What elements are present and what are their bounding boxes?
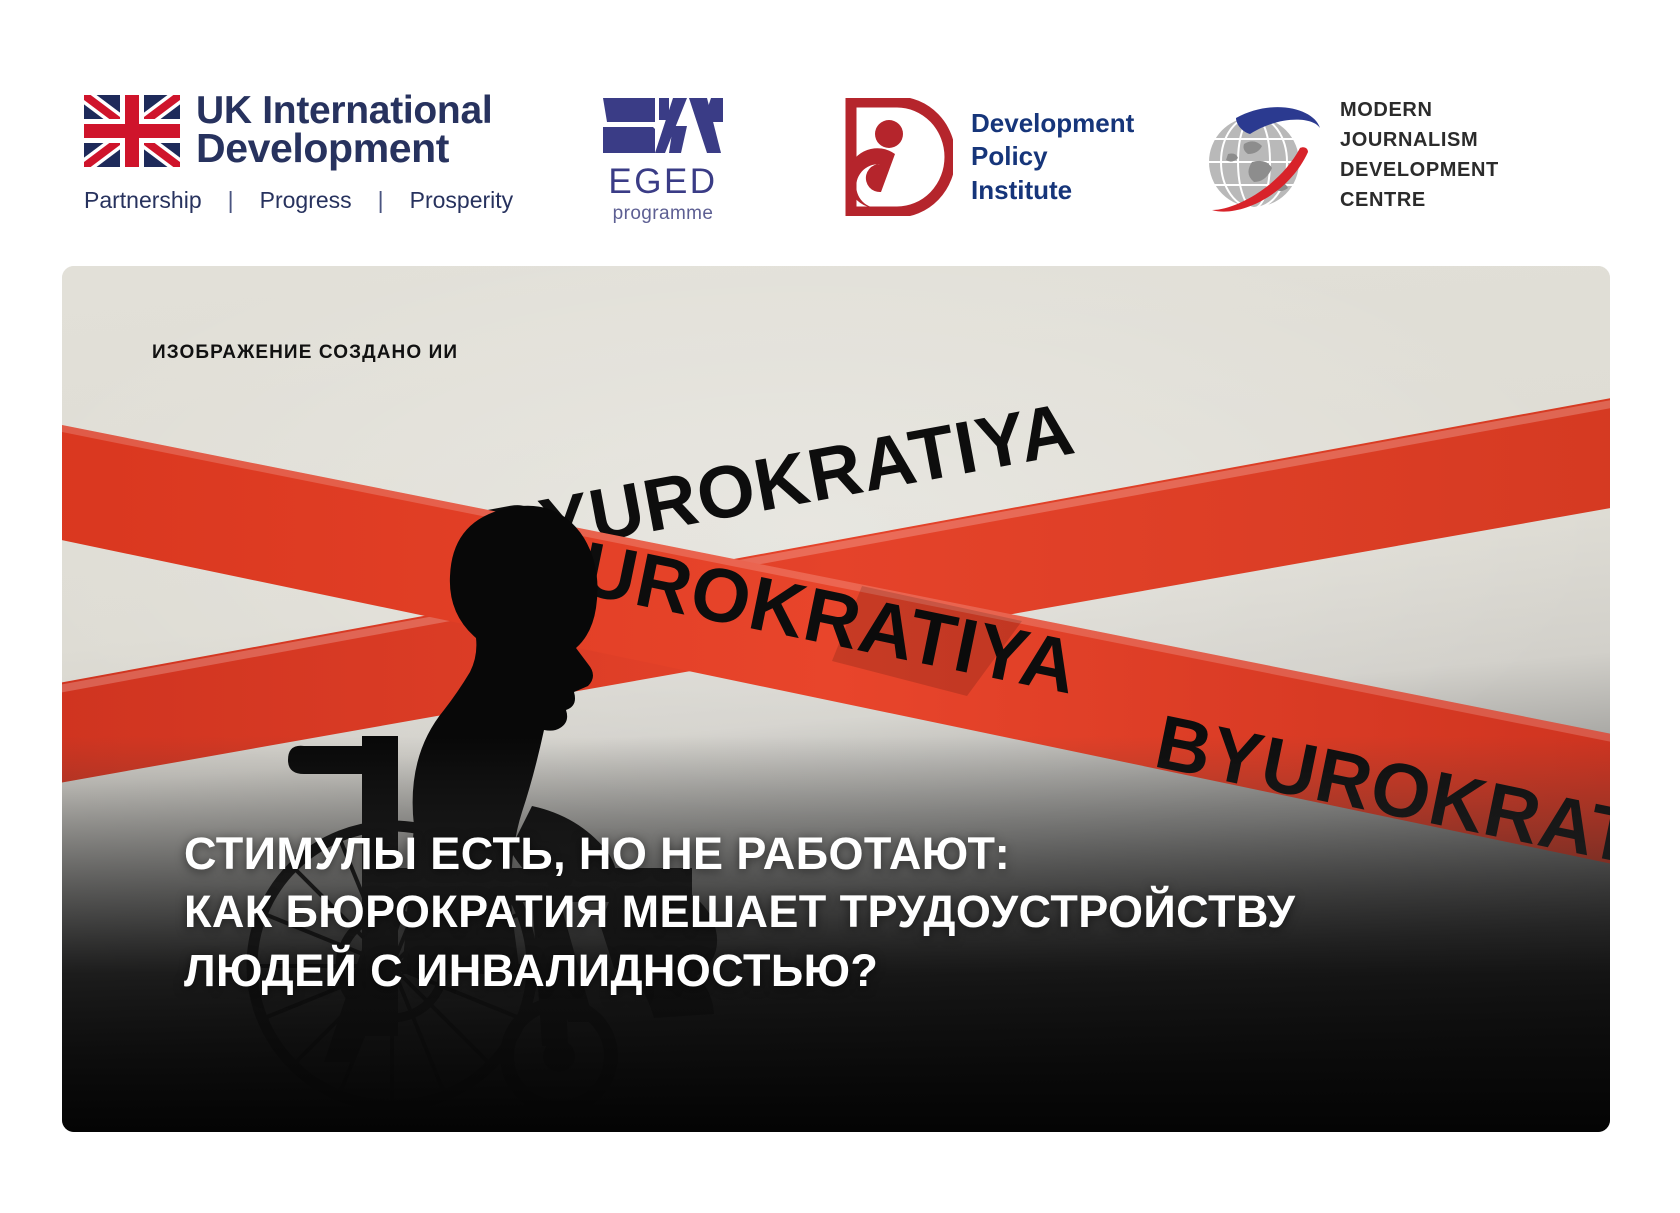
mjdc-line-centre: CENTRE [1340,185,1499,215]
partner-logo-bar: UK International Development Partnership… [0,0,1680,262]
mjdc-line-development: DEVELOPMENT [1340,155,1499,185]
ukid-tagline-sep-1: | [202,187,260,214]
ukid-logo-top: UK International Development [84,92,513,169]
eged-subtitle: programme [613,203,714,225]
eged-wordmark: EGED [608,162,717,202]
hero-illustration-card: BYUROKRATIYA BYUROKRATIYA BYUROKRATIYA [62,266,1610,1132]
modern-journalism-development-centre-logo: MODERN JOURNALISM DEVELOPMENT CENTRE [1192,92,1499,217]
mjdc-line-modern: MODERN [1340,95,1499,125]
ukid-tagline-progress: Progress [260,187,352,214]
dpi-wordmark: Development Policy Institute [971,107,1134,206]
ukid-line2: Development [196,129,492,168]
dpi-line-policy: Policy [971,140,1134,173]
mjdc-wordmark: MODERN JOURNALISM DEVELOPMENT CENTRE [1340,95,1499,215]
ukid-tagline-partnership: Partnership [84,187,202,214]
hero-headline-line-3: ЛЮДЕЙ С ИНВАЛИДНОСТЬЮ? [184,942,1295,1001]
eged-flag-mark-icon [603,96,723,156]
ukid-wordmark: UK International Development [196,92,492,169]
ukid-tagline-prosperity: Prosperity [410,187,514,214]
hero-headline-line-1: СТИМУЛЫ ЕСТЬ, НО НЕ РАБОТАЮТ: [184,825,1295,884]
ukid-tagline: Partnership | Progress | Prosperity [84,187,513,214]
uk-international-development-logo: UK International Development Partnership… [84,92,513,214]
dpi-d-mark-icon [845,98,953,216]
mjdc-line-journalism: JOURNALISM [1340,125,1499,155]
hero-headline-line-2: КАК БЮРОКРАТИЯ МЕШАЕТ ТРУДОУСТРОЙСТВУ [184,883,1295,942]
ukid-tagline-sep-2: | [352,187,410,214]
ai-generated-image-badge: ИЗОБРАЖЕНИЕ СОЗДАНО ИИ [152,342,458,364]
dpi-line-institute: Institute [971,174,1134,207]
globe-with-swooshes-icon [1192,92,1332,217]
ukid-line1: UK International [196,92,492,129]
development-policy-institute-logo: Development Policy Institute [845,98,1134,216]
eged-programme-logo: EGED programme [603,96,723,225]
bureaucracy-tape-artwork: BYUROKRATIYA BYUROKRATIYA BYUROKRATIYA [62,266,1610,1132]
union-jack-flag-icon [84,95,180,167]
dpi-line-development: Development [971,107,1134,140]
hero-headline: СТИМУЛЫ ЕСТЬ, НО НЕ РАБОТАЮТ: КАК БЮРОКР… [184,825,1295,1001]
